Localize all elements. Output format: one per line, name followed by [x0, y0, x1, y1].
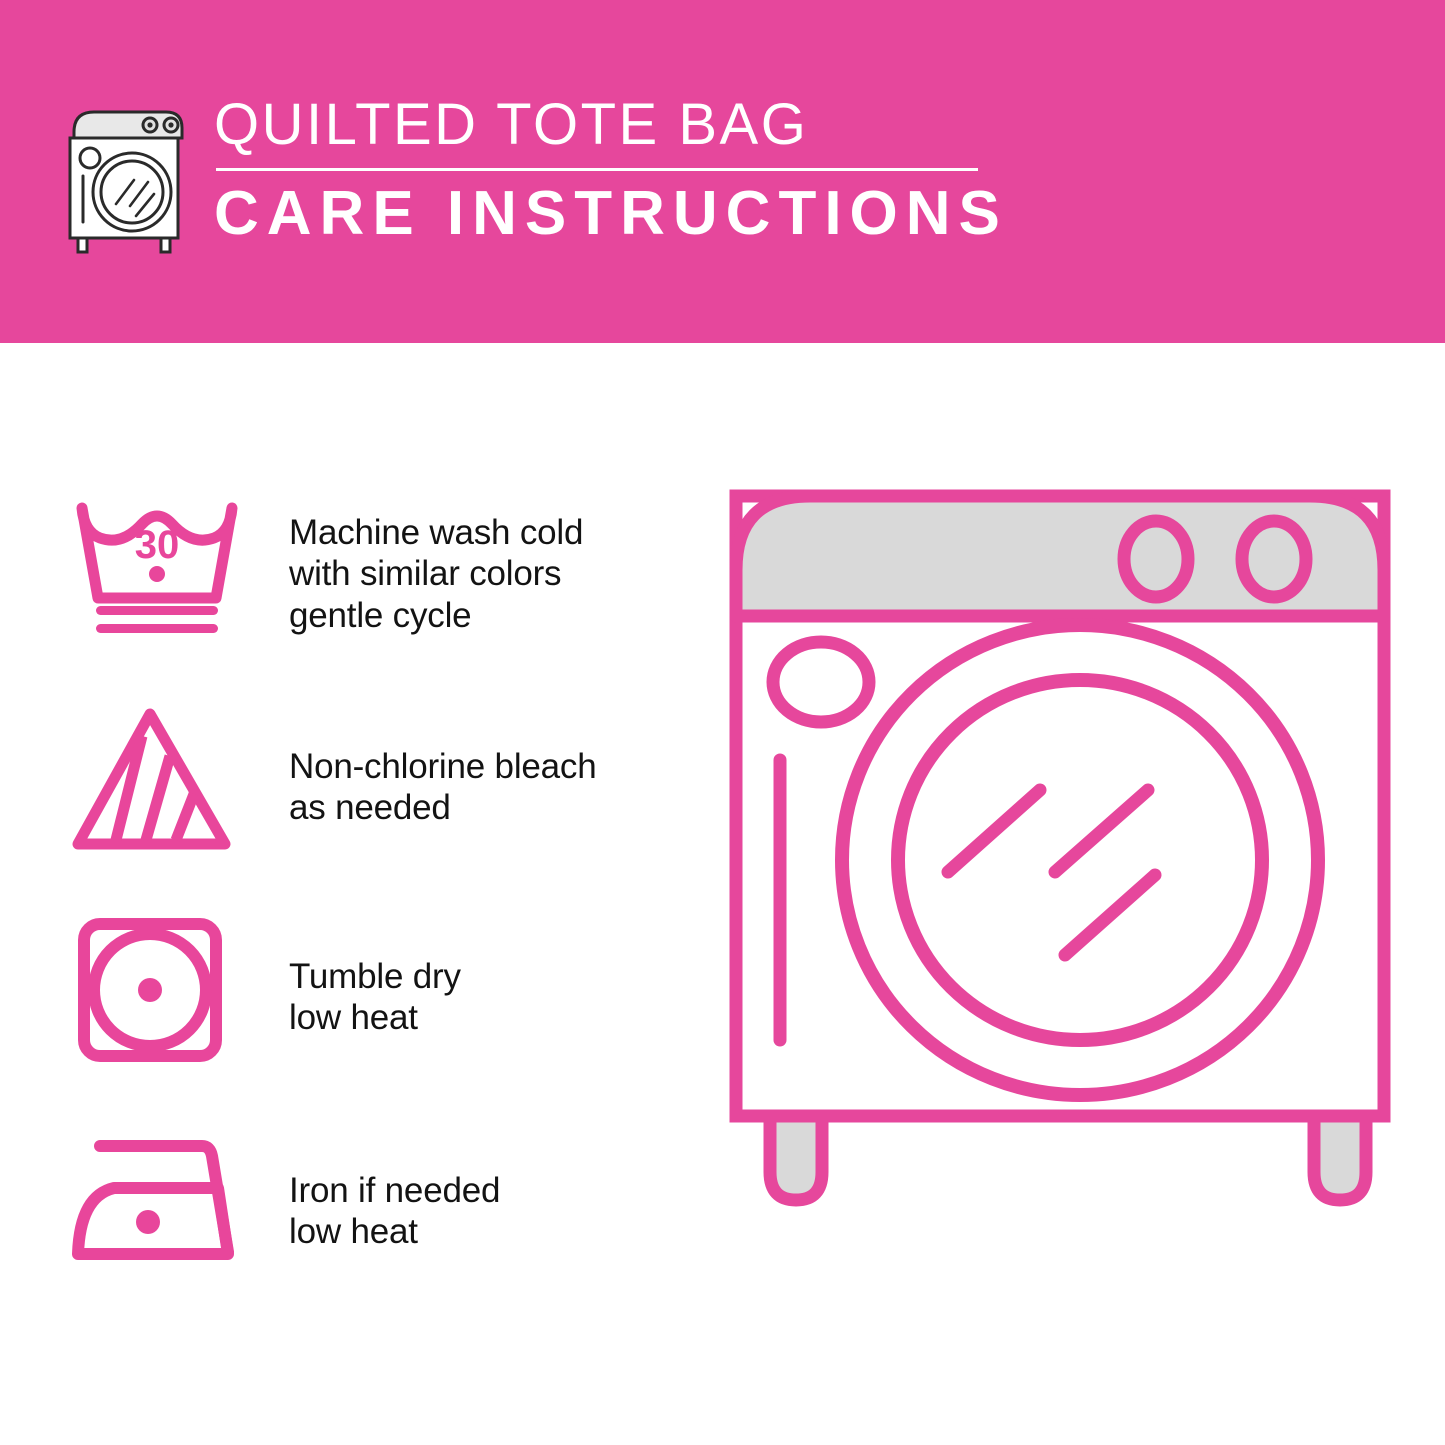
machine-wash-30-gentle-icon: 30 — [70, 486, 245, 646]
care-row-iron: Iron if needed low heat — [70, 1122, 690, 1334]
care-row-machine-wash: 30 Machine wash cold with similar colors… — [70, 486, 690, 698]
iron-low-heat-icon — [70, 1122, 245, 1282]
tumble-dry-low-heat-icon — [70, 910, 245, 1070]
page-title: QUILTED TOTE BAG — [214, 96, 1008, 154]
care-row-tumble-dry: Tumble dry low heat — [70, 910, 690, 1122]
header-titles: QUILTED TOTE BAG CARE INSTRUCTIONS — [214, 96, 1008, 245]
care-instruction-list: 30 Machine wash cold with similar colors… — [70, 486, 690, 1334]
title-divider — [216, 168, 978, 171]
care-instructions-infographic: QUILTED TOTE BAG CARE INSTRUCTIONS 30 — [0, 0, 1445, 1445]
care-text-tumble-dry: Tumble dry low heat — [289, 910, 461, 1039]
header-banner: QUILTED TOTE BAG CARE INSTRUCTIONS — [0, 0, 1445, 343]
washing-machine-icon — [58, 100, 190, 255]
non-chlorine-bleach-triangle-icon — [70, 698, 245, 858]
page-subtitle: CARE INSTRUCTIONS — [214, 183, 1008, 245]
care-text-iron: Iron if needed low heat — [289, 1122, 500, 1253]
care-text-bleach: Non-chlorine bleach as needed — [289, 698, 597, 829]
large-washing-machine-illustration — [700, 460, 1420, 1380]
header-content: QUILTED TOTE BAG CARE INSTRUCTIONS — [58, 96, 1008, 255]
svg-text:30: 30 — [135, 523, 180, 567]
care-row-bleach: Non-chlorine bleach as needed — [70, 698, 690, 910]
care-text-machine-wash: Machine wash cold with similar colors ge… — [289, 486, 583, 636]
